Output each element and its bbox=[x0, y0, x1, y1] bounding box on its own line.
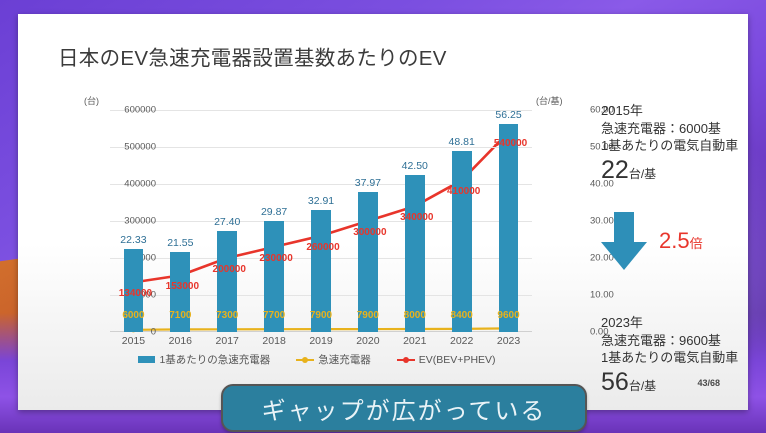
multiplier-value: 2.5 bbox=[659, 228, 690, 253]
x-tick: 2022 bbox=[450, 335, 473, 347]
arrow-head bbox=[601, 242, 647, 270]
y-tick-left: 500000 bbox=[108, 142, 156, 153]
ev-value-label: 134000 bbox=[119, 288, 152, 299]
charger-value-label: 8400 bbox=[451, 310, 473, 321]
ev-value-label: 410000 bbox=[447, 186, 480, 197]
charger-value-label: 7300 bbox=[216, 310, 238, 321]
legend-line-swatch bbox=[397, 354, 415, 365]
x-tick: 2020 bbox=[356, 335, 379, 347]
legend-label: EV(BEV+PHEV) bbox=[419, 354, 496, 366]
chart-container: (台) (台/基) 00.0010000010.0020000020.00300… bbox=[58, 94, 576, 374]
legend-label: 1基あたりの急速充電器 bbox=[159, 352, 270, 367]
side-2015-value-row: 22台/基 bbox=[601, 157, 751, 185]
bar-value-label: 22.33 bbox=[120, 234, 146, 246]
legend-item[interactable]: EV(BEV+PHEV) bbox=[397, 354, 496, 366]
bar-value-label: 27.40 bbox=[214, 216, 240, 228]
bar bbox=[405, 175, 425, 332]
side-2015-year: 2015年 bbox=[601, 102, 751, 120]
bar-column bbox=[499, 124, 519, 332]
callout-box: ギャップが広がっている bbox=[221, 384, 587, 432]
side-2015-unit: 台/基 bbox=[629, 167, 656, 181]
side-panel-2023: 2023年 急速充電器：9600基 1基あたりの電気自動車 56台/基 bbox=[601, 314, 751, 396]
legend-bar-swatch bbox=[138, 356, 155, 363]
bar bbox=[499, 124, 519, 332]
ev-value-label: 540000 bbox=[494, 138, 527, 149]
side-2023-value: 56 bbox=[601, 368, 629, 396]
chart-legend: 1基あたりの急速充電器急速充電器EV(BEV+PHEV) bbox=[58, 352, 576, 367]
side-2015-per-unit-label: 1基あたりの電気自動車 bbox=[601, 137, 751, 155]
bar-value-label: 37.97 bbox=[355, 177, 381, 189]
y-tick-left: 300000 bbox=[108, 216, 156, 227]
y-tick-left: 400000 bbox=[108, 179, 156, 190]
side-2023-per-unit-label: 1基あたりの電気自動車 bbox=[601, 349, 751, 367]
slide-panel: 日本のEV急速充電器設置基数あたりのEV (台) (台/基) 00.001000… bbox=[18, 14, 748, 410]
x-tick: 2015 bbox=[122, 335, 145, 347]
down-arrow-icon bbox=[601, 212, 647, 270]
ev-value-label: 300000 bbox=[353, 227, 386, 238]
legend-label: 急速充電器 bbox=[318, 352, 371, 367]
bar-value-label: 56.25 bbox=[495, 109, 521, 121]
bar-value-label: 21.55 bbox=[167, 237, 193, 249]
x-tick: 2016 bbox=[169, 335, 192, 347]
side-2015-value: 22 bbox=[601, 156, 629, 184]
multiplier-label: 2.5倍 bbox=[659, 228, 703, 254]
bar-value-label: 32.91 bbox=[308, 195, 334, 207]
charger-value-label: 6000 bbox=[122, 310, 144, 321]
comparison-arrow-row: 2.5倍 bbox=[601, 210, 761, 272]
side-2023-year: 2023年 bbox=[601, 314, 751, 332]
legend-line-swatch bbox=[296, 354, 314, 365]
y-tick-right: 10.00 bbox=[590, 290, 640, 301]
bar bbox=[452, 151, 472, 332]
side-2023-unit: 台/基 bbox=[629, 379, 656, 393]
page-number: 43/68 bbox=[697, 378, 720, 388]
x-tick: 2019 bbox=[309, 335, 332, 347]
x-tick: 2017 bbox=[216, 335, 239, 347]
ev-value-label: 200000 bbox=[213, 264, 246, 275]
x-tick: 2021 bbox=[403, 335, 426, 347]
legend-item[interactable]: 1基あたりの急速充電器 bbox=[138, 352, 270, 367]
bar-value-label: 48.81 bbox=[449, 136, 475, 148]
ev-value-label: 340000 bbox=[400, 212, 433, 223]
x-tick: 2018 bbox=[262, 335, 285, 347]
charger-value-label: 7900 bbox=[310, 310, 332, 321]
right-axis-unit: (台/基) bbox=[536, 94, 563, 107]
charger-value-label: 7700 bbox=[263, 310, 285, 321]
y-tick-left: 600000 bbox=[108, 105, 156, 116]
x-tick: 2023 bbox=[497, 335, 520, 347]
charger-value-label: 9600 bbox=[497, 310, 519, 321]
side-panel-2015: 2015年 急速充電器：6000基 1基あたりの電気自動車 22台/基 bbox=[601, 102, 751, 184]
side-2023-value-row: 56台/基 bbox=[601, 369, 751, 397]
bar-value-label: 29.87 bbox=[261, 206, 287, 218]
multiplier-unit: 倍 bbox=[690, 236, 703, 251]
ev-value-label: 260000 bbox=[306, 242, 339, 253]
ev-value-label: 230000 bbox=[259, 253, 292, 264]
charger-value-label: 7100 bbox=[169, 310, 191, 321]
side-2015-chargers: 急速充電器：6000基 bbox=[601, 120, 751, 138]
charger-value-label: 7900 bbox=[357, 310, 379, 321]
charger-value-label: 8000 bbox=[404, 310, 426, 321]
ev-value-label: 153000 bbox=[166, 281, 199, 292]
plot-area: 00.0010000010.0020000020.0030000030.0040… bbox=[110, 110, 532, 332]
gridline bbox=[110, 110, 532, 111]
bar-column bbox=[405, 175, 425, 332]
left-axis-unit: (台) bbox=[84, 94, 99, 107]
arrow-shaft bbox=[614, 212, 634, 244]
bar-column bbox=[452, 151, 472, 332]
page-title: 日本のEV急速充電器設置基数あたりのEV bbox=[58, 41, 447, 71]
side-2023-chargers: 急速充電器：9600基 bbox=[601, 332, 751, 350]
slide-screenshot: 日本のEV急速充電器設置基数あたりのEV (台) (台/基) 00.001000… bbox=[0, 0, 766, 433]
bar-value-label: 42.50 bbox=[402, 160, 428, 172]
legend-item[interactable]: 急速充電器 bbox=[296, 352, 371, 367]
